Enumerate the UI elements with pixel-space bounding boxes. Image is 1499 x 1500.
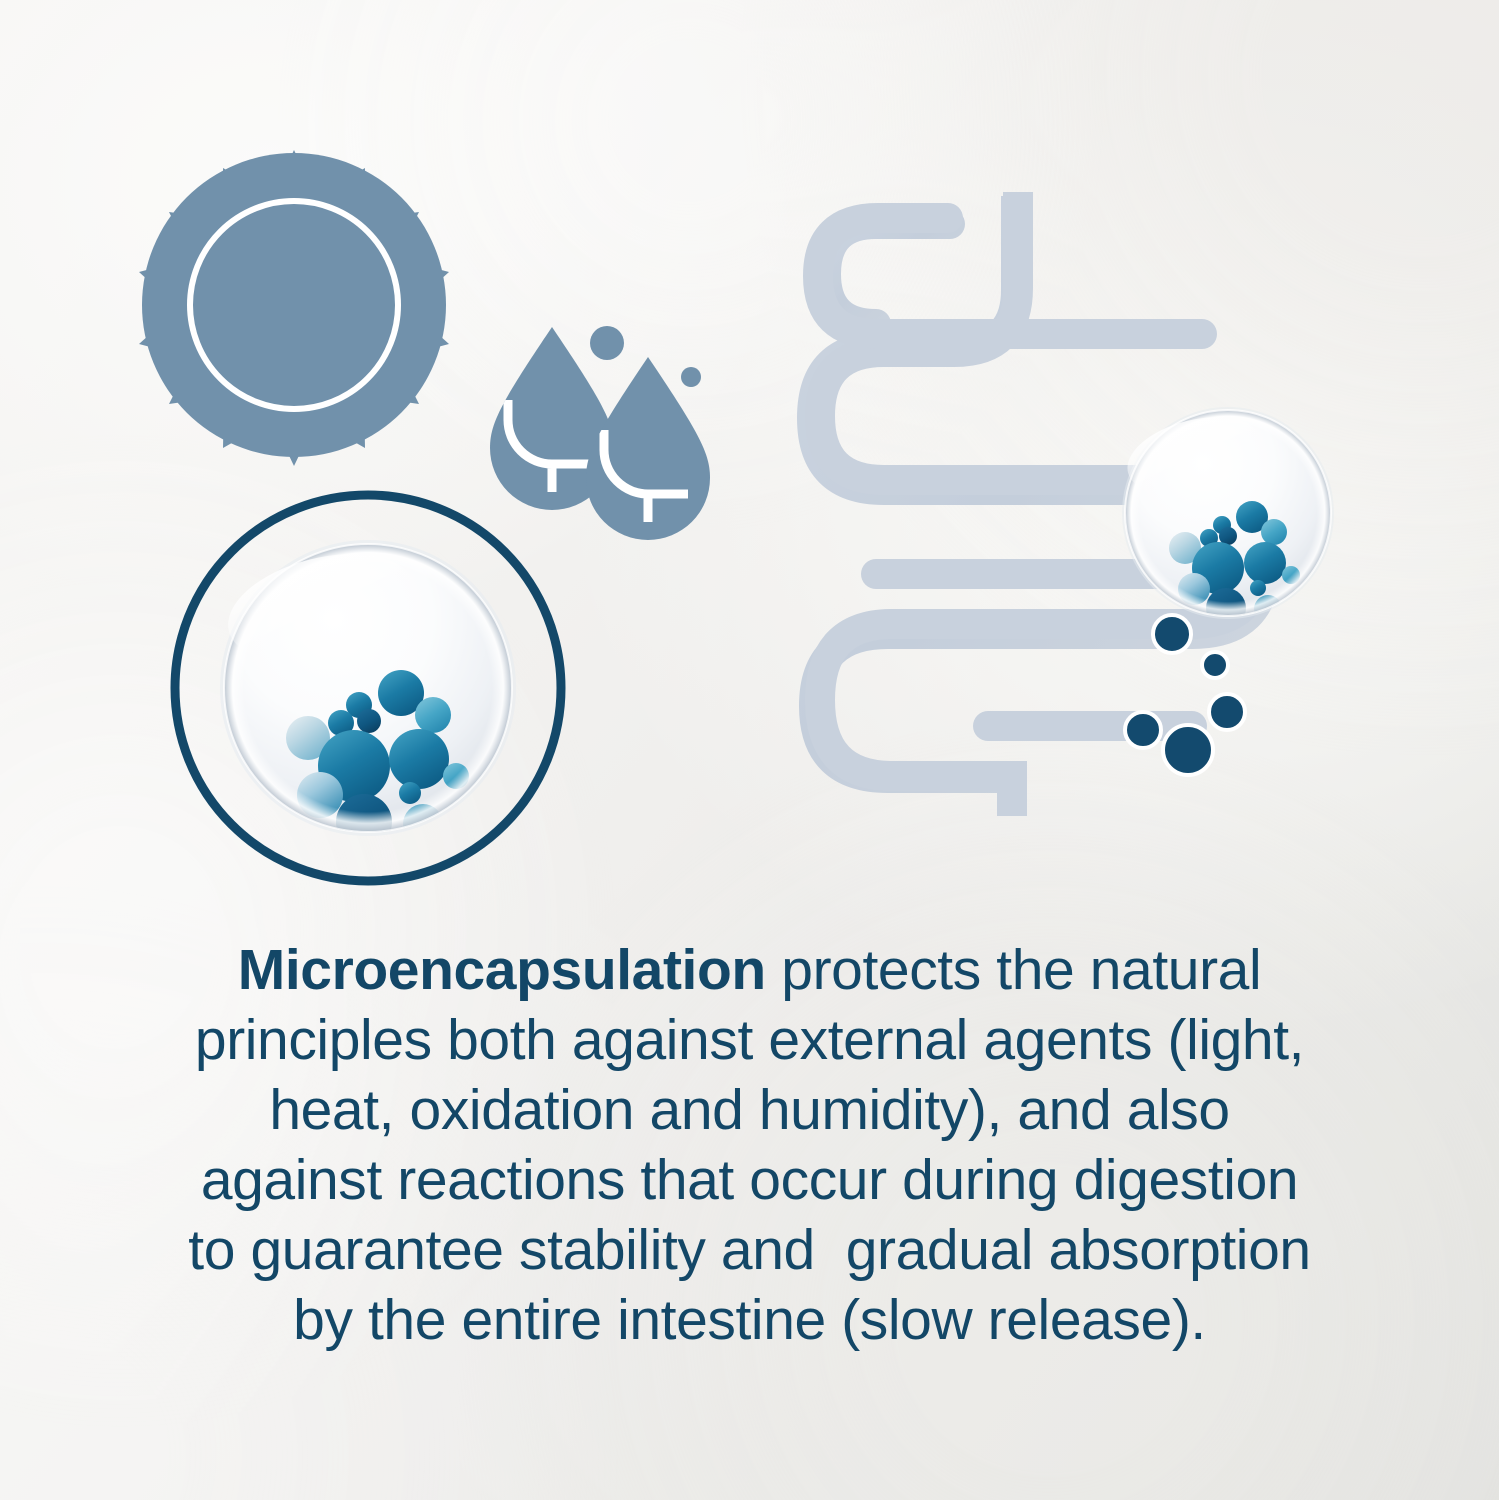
caption-line-1: Microencapsulation protects the natural — [50, 935, 1449, 1005]
droplet-bubble-large — [590, 326, 624, 360]
caption-line-1-rest: protects the natural — [766, 938, 1261, 1002]
microencapsulation-caption: Microencapsulation protects the natural … — [50, 935, 1449, 1355]
droplet-bubble-small — [681, 367, 701, 387]
microcapsule-small-icon — [1119, 404, 1334, 628]
caption-line-5: to guarantee stability and gradual absor… — [50, 1215, 1449, 1285]
caption-line-3: heat, oxidation and humidity), and also — [50, 1075, 1449, 1145]
humidity-droplets-icon — [490, 326, 710, 540]
caption-lead-bold: Microencapsulation — [238, 938, 766, 1002]
caption-line-4: against reactions that occur during dige… — [50, 1145, 1449, 1215]
microcapsule-large-icon — [175, 495, 561, 881]
caption-line-2: principles both against external agents … — [50, 1005, 1449, 1075]
sun-icon — [139, 150, 449, 466]
infographic-canvas: Microencapsulation protects the natural … — [0, 0, 1499, 1500]
caption-line-6: by the entire intestine (slow release). — [50, 1285, 1449, 1355]
